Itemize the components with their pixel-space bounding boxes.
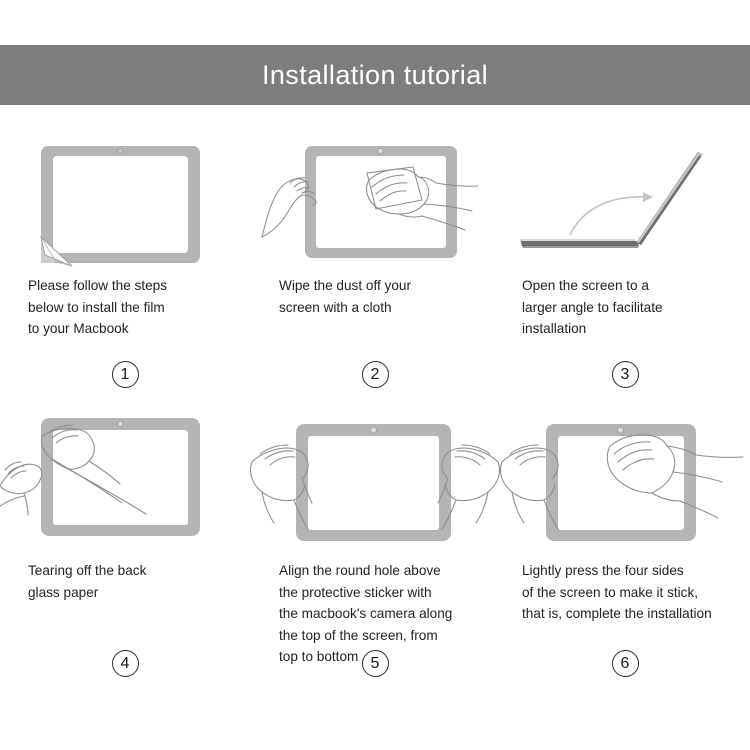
step-4-illustration	[0, 410, 250, 560]
caption-line: screen with a cloth	[279, 297, 486, 319]
caption-line: Lightly press the four sides	[522, 560, 736, 582]
hand-pressing-film-onto-screen-icon	[500, 410, 750, 560]
step-2: Wipe the dust off your screen with a clo…	[250, 125, 500, 410]
caption-line: the macbook's camera along	[279, 603, 486, 625]
caption-line: Please follow the steps	[28, 275, 236, 297]
tutorial-steps-grid: Please follow the steps below to install…	[0, 125, 750, 725]
caption-line: to your Macbook	[28, 318, 236, 340]
step-1-illustration	[0, 125, 250, 275]
step-number-badge: 1	[112, 361, 139, 388]
step-number-badge: 5	[362, 650, 389, 677]
caption-line: Open the screen to a	[522, 275, 736, 297]
step-1-number-wrap: 1	[0, 361, 250, 388]
caption-line: that is, complete the installation	[522, 603, 736, 625]
step-2-number-wrap: 2	[250, 361, 500, 388]
step-5: Align the round hole above the protectiv…	[250, 410, 500, 700]
caption-line: the protective sticker with	[279, 582, 486, 604]
caption-line: of the screen to make it stick,	[522, 582, 736, 604]
macbook-screen-with-peeling-film-corner-icon	[0, 125, 250, 275]
step-5-number-wrap: 5	[250, 650, 500, 677]
caption-line: installation	[522, 318, 736, 340]
step-4-caption: Tearing off the back glass paper	[0, 560, 250, 603]
caption-line: below to install the film	[28, 297, 236, 319]
page-title: Installation tutorial	[262, 60, 488, 91]
step-6-number-wrap: 6	[500, 650, 750, 677]
caption-line: glass paper	[28, 582, 236, 604]
step-number-badge: 2	[362, 361, 389, 388]
caption-line: larger angle to facilitate	[522, 297, 736, 319]
step-2-caption: Wipe the dust off your screen with a clo…	[250, 275, 500, 318]
caption-line: the top of the screen, from	[279, 625, 486, 647]
step-3-illustration	[500, 125, 750, 275]
step-4-number-wrap: 4	[0, 650, 250, 677]
caption-line: Tearing off the back	[28, 560, 236, 582]
step-6-illustration	[500, 410, 750, 560]
step-6: Lightly press the four sides of the scre…	[500, 410, 750, 700]
hands-wiping-screen-with-cloth-icon	[250, 125, 500, 275]
caption-line: Wipe the dust off your	[279, 275, 486, 297]
step-3: Open the screen to a larger angle to fac…	[500, 125, 750, 410]
step-1-caption: Please follow the steps below to install…	[0, 275, 250, 340]
laptop-side-view-opening-screen-arrow-icon	[500, 125, 750, 275]
step-number-badge: 6	[612, 650, 639, 677]
step-5-illustration	[250, 410, 500, 560]
header-banner: Installation tutorial	[0, 45, 750, 105]
step-6-caption: Lightly press the four sides of the scre…	[500, 560, 750, 625]
step-number-badge: 3	[612, 361, 639, 388]
step-number-badge: 4	[112, 650, 139, 677]
step-2-illustration	[250, 125, 500, 275]
step-3-number-wrap: 3	[500, 361, 750, 388]
hand-tearing-back-paper-from-screen-icon	[0, 410, 250, 560]
caption-line: Align the round hole above	[279, 560, 486, 582]
two-hands-aligning-film-on-screen-icon	[250, 410, 500, 560]
step-3-caption: Open the screen to a larger angle to fac…	[500, 275, 750, 340]
step-4: Tearing off the back glass paper 4	[0, 410, 250, 700]
step-1: Please follow the steps below to install…	[0, 125, 250, 410]
